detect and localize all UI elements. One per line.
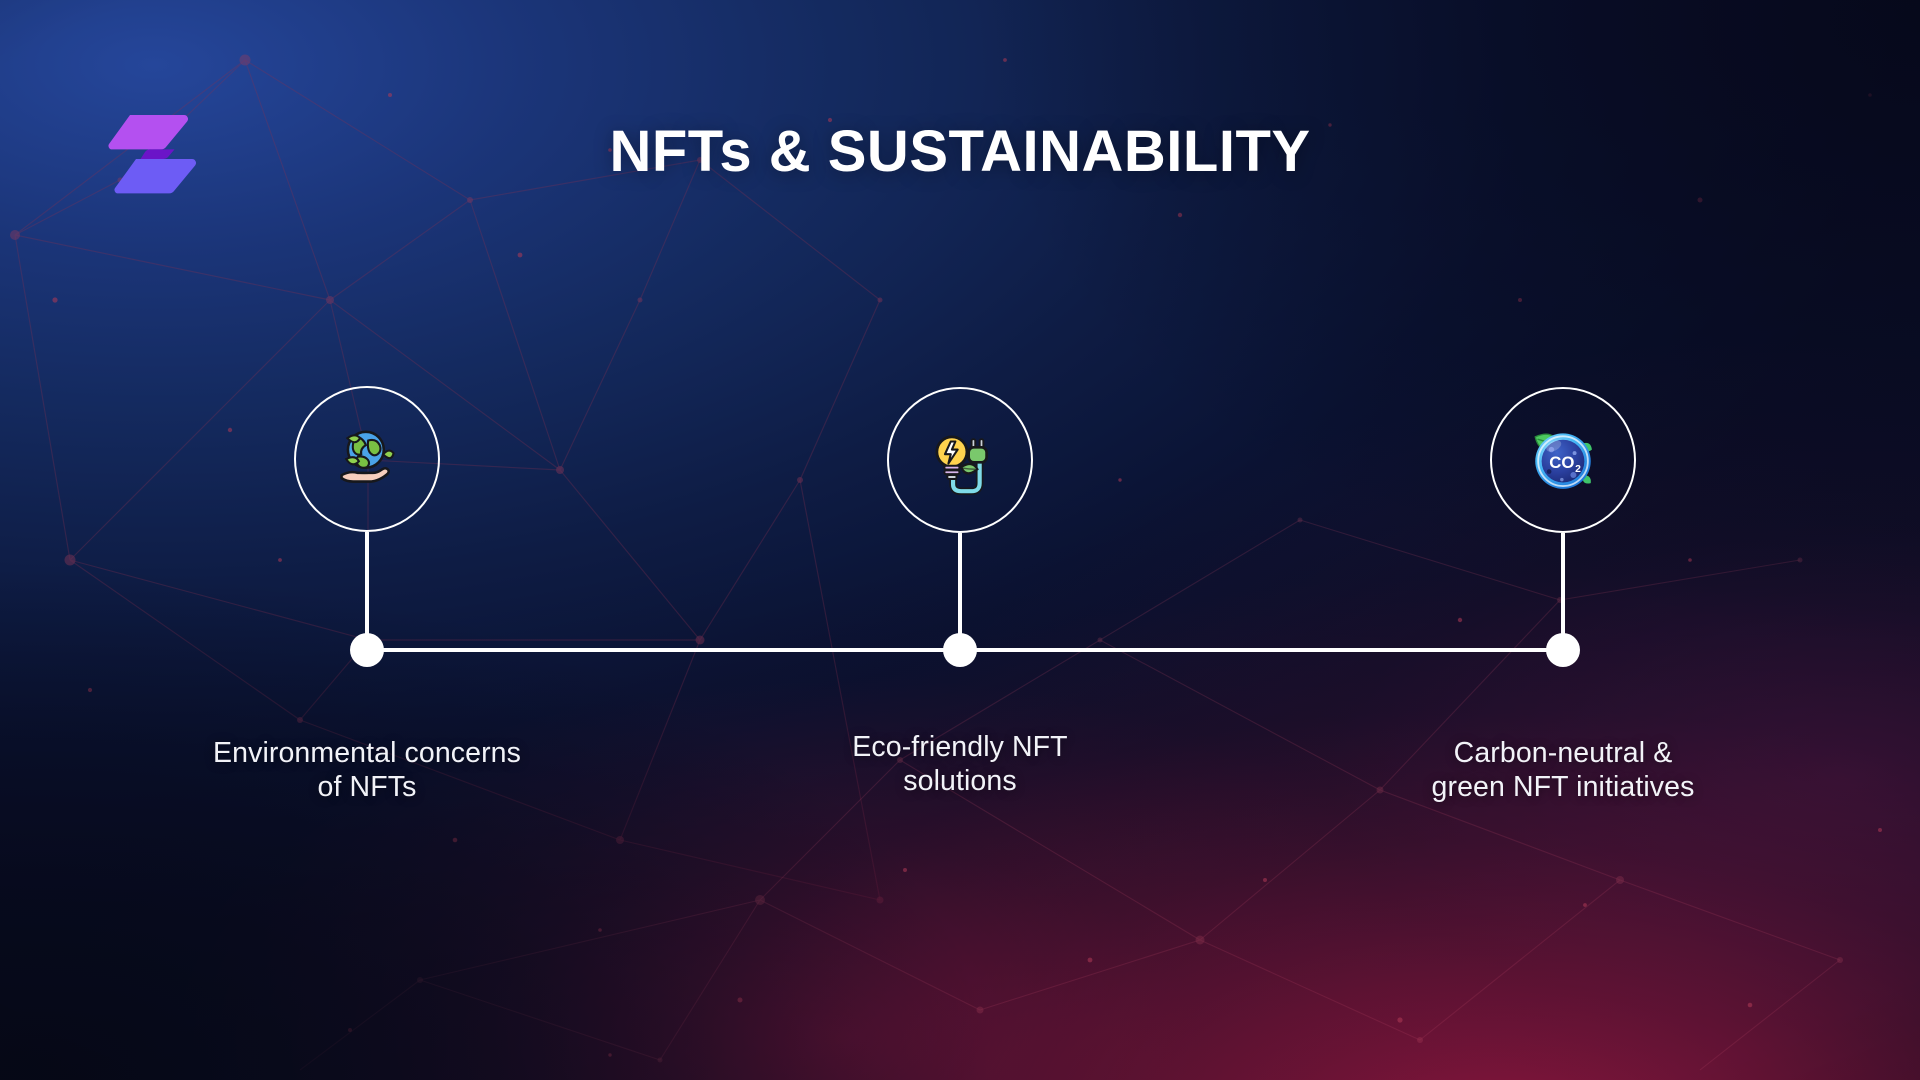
- step-1-timeline-dot[interactable]: [350, 633, 384, 667]
- step-2-timeline-dot[interactable]: [943, 633, 977, 667]
- lightbulb-eco-plug-icon: [923, 423, 997, 497]
- step-2-icon-ring[interactable]: [887, 387, 1033, 533]
- step-3-timeline-dot[interactable]: [1546, 633, 1580, 667]
- step-2-caption: Eco-friendly NFT solutions: [720, 730, 1200, 798]
- hand-holding-earth-icon: [330, 422, 404, 496]
- step-3-icon-ring[interactable]: CO 2: [1490, 387, 1636, 533]
- slide-canvas: NFTs & SUSTAINABILITY: [0, 0, 1920, 1080]
- timeline: Environmental concerns of NFTs: [0, 0, 1920, 1080]
- svg-text:2: 2: [1575, 464, 1581, 475]
- svg-text:CO: CO: [1549, 453, 1574, 472]
- step-3-caption: Carbon-neutral & green NFT initiatives: [1323, 736, 1803, 804]
- co2-leaf-badge-icon: CO 2: [1526, 423, 1600, 497]
- step-1-icon-ring[interactable]: [294, 386, 440, 532]
- step-1-caption: Environmental concerns of NFTs: [127, 736, 607, 804]
